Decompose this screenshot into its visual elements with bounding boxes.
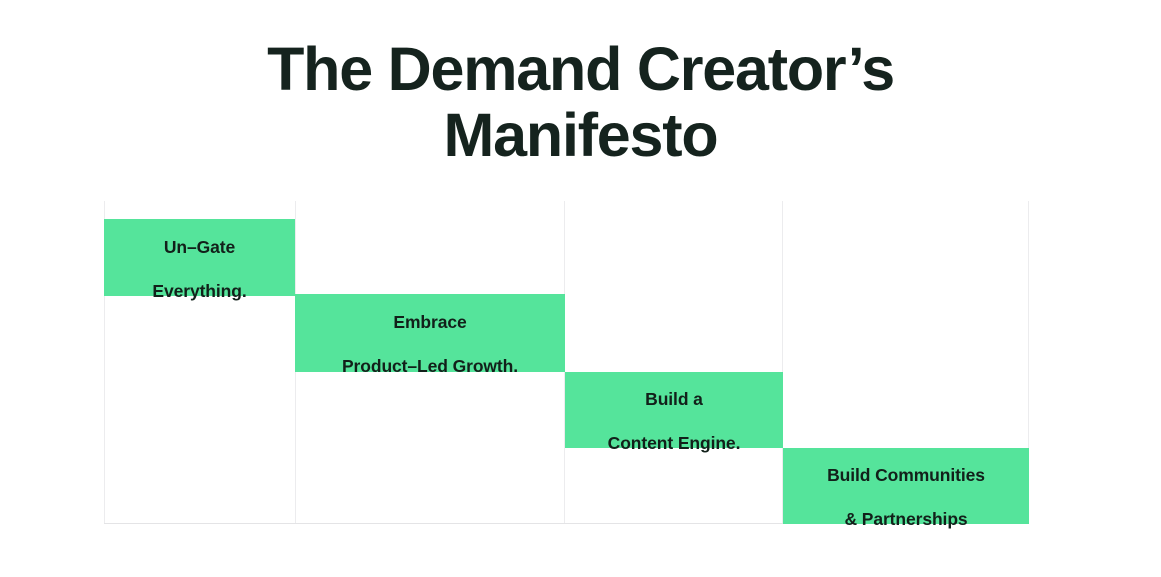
page-title: The Demand Creator’s Manifesto <box>0 36 1161 168</box>
staircase-step-4-line-1: Build Communities <box>827 465 985 485</box>
staircase-step-3-label: Build a Content Engine. <box>608 366 741 454</box>
staircase-step-1-line-2: Everything. <box>152 281 246 301</box>
staircase-step-1-line-1: Un–Gate <box>164 237 235 257</box>
staircase-step-3-line-1: Build a <box>645 389 703 409</box>
staircase-step-3: Build a Content Engine. <box>565 372 783 448</box>
staircase-step-2-line-1: Embrace <box>393 312 466 332</box>
staircase-step-4-label: Build Communities & Partnerships <box>827 442 985 530</box>
staircase-step-2-label: Embrace Product–Led Growth. <box>342 289 518 377</box>
staircase-step-4: Build Communities & Partnerships <box>783 448 1029 524</box>
staircase-step-1: Un–Gate Everything. <box>104 219 295 296</box>
staircase-chart: Un–Gate Everything. Embrace Product–Led … <box>104 201 1029 524</box>
staircase-step-2: Embrace Product–Led Growth. <box>295 294 565 372</box>
page-title-line-1: The Demand Creator’s <box>0 36 1161 102</box>
staircase-step-3-line-2: Content Engine. <box>608 433 741 453</box>
staircase-step-1-label: Un–Gate Everything. <box>152 214 246 302</box>
page-title-line-2: Manifesto <box>0 102 1161 168</box>
staircase-step-2-line-2: Product–Led Growth. <box>342 356 518 376</box>
staircase-step-4-line-2: & Partnerships <box>844 509 967 529</box>
